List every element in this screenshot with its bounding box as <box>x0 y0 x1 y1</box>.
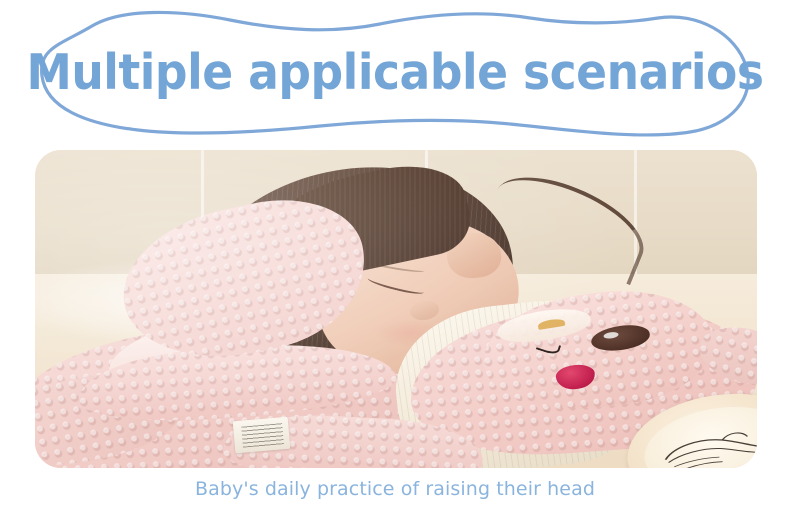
page-title: Multiple applicable scenarios <box>56 4 735 140</box>
photo-caption: Baby's daily practice of raising their h… <box>0 478 790 500</box>
product-banner-page: Multiple applicable scenarios <box>0 0 790 512</box>
plush-patch-mark <box>538 317 565 330</box>
pillow-care-label <box>232 416 289 452</box>
photo-content <box>35 150 757 468</box>
header-bubble: Multiple applicable scenarios <box>30 4 760 140</box>
plush-eye-glint <box>603 331 619 340</box>
care-label-text-lines <box>240 423 283 447</box>
scenario-photo <box>35 150 757 468</box>
